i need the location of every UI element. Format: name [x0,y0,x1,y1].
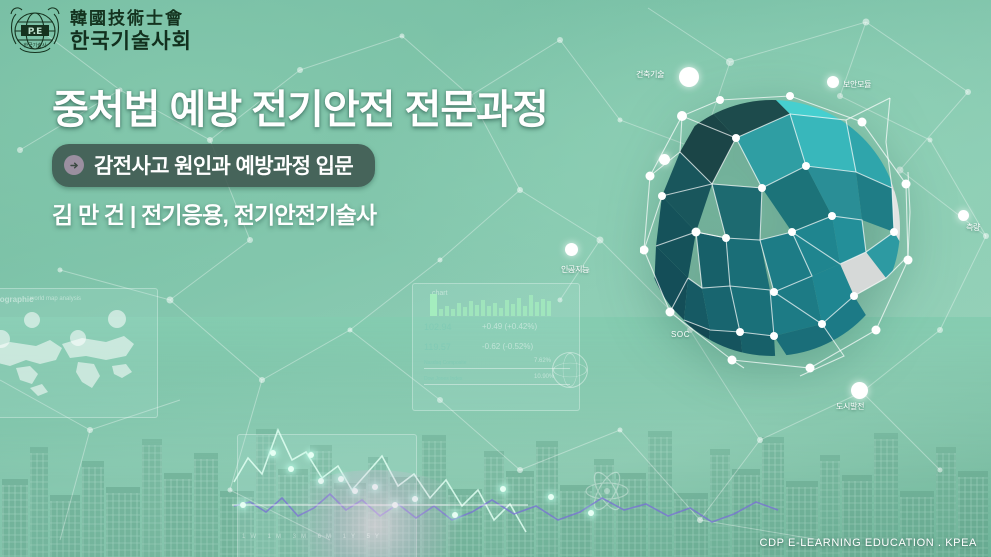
chart-node [588,510,594,516]
network-label-1: 보안모듈 [843,79,871,90]
page-title: 중처법 예방 전기안전 전문과정 [52,88,572,132]
pie-chart-mini-3 [70,330,86,346]
bar [451,309,455,317]
timeframe-selector: 1W 1M 3M 6M 1Y 5Y [242,534,384,540]
infographic-title: Infographic [0,295,34,304]
network-node-large [958,210,969,221]
chart-node [548,494,554,500]
organization-logo: P.E 한국기술사 韓國技術士會 한국기술사회 [8,6,192,56]
bar [475,305,479,316]
logo-korean-text: 한국기술사회 [70,31,192,52]
bar [529,295,533,316]
bar [457,303,461,316]
pie-chart-mini-4 [108,310,126,328]
dashboard-row-value-2: 10.90% [534,374,554,380]
bar [535,302,539,316]
dashboard-row-label-1: Nasdaq Composite [424,360,467,366]
bar [499,308,503,316]
bar [523,306,527,317]
network-label-5: 도시발전 [836,401,864,412]
dashboard-value-2: 119.57 [424,342,451,352]
bar [430,294,437,317]
bar [517,298,521,316]
dashboard-value-1: 102.94 [424,322,452,332]
bar [511,304,515,316]
svg-text:P.E: P.E [28,27,43,37]
chart-node [240,502,246,508]
dashboard-row-label-2: Dow Jones Index [424,376,462,382]
chart-node [270,450,276,456]
pe-society-emblem-icon: P.E 한국기술사 [8,6,62,56]
network-node-large [851,382,868,399]
chart-node [288,466,294,472]
chart-node [500,486,506,492]
subtitle-badge-label: 감전사고 원인과 예방과정 입문 [94,150,353,180]
dashboard-divider-2 [424,384,570,385]
logo-hanja-text: 韓國技術士會 [70,11,192,28]
infographic-subtitle: world map analysis [30,296,81,302]
network-label-0: 건축기술 [636,69,664,80]
ticker-down: -0.62 (-0.52%) [482,342,533,351]
bar [547,301,551,316]
presenter-line: 김 만 건 | 전기응용, 전기안전기술사 [52,196,572,230]
footer-credit: CDP E-LEARNING EDUCATION . KPEA [760,537,977,549]
bar [481,300,485,317]
dashboard-divider-1 [424,368,570,369]
bar [487,306,491,316]
bar [445,306,449,317]
chart-node [308,452,314,458]
network-label-3: 인공지능 [561,264,589,275]
arrow-right-circle-icon [64,155,84,175]
globe-wire-icon [552,352,588,388]
network-node-large [679,67,699,87]
bar [469,301,473,316]
svg-text:한국기술사: 한국기술사 [23,42,46,49]
bar-chart-overlay [430,292,551,316]
ticker-up: +0.49 (+0.42%) [482,322,537,331]
bar [505,300,509,316]
subtitle-badge: 감전사고 원인과 예방과정 입문 [52,144,375,187]
bar [493,303,497,317]
network-node-large [827,76,839,88]
network-node-large [565,243,578,256]
network-label-4: SOC [671,330,690,339]
presentation-slide: Infographic world map analysis chart 102… [0,0,991,557]
bar [463,307,467,316]
network-node-large [659,154,670,165]
bar [541,299,545,316]
network-label-2: 측량 [966,222,980,233]
title-block: 중처법 예방 전기안전 전문과정 감전사고 원인과 예방과정 입문 김 만 건 … [52,88,572,230]
pie-chart-mini-1 [24,312,40,328]
bar [439,309,443,316]
dashboard-row-value-1: 7.62% [534,358,551,364]
